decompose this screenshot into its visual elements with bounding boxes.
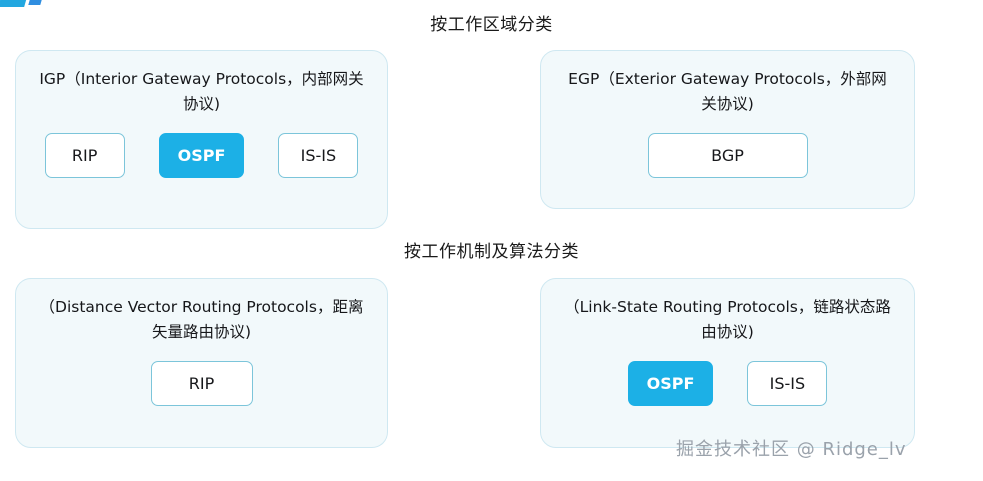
card-heading: EGP（Exterior Gateway Protocols，外部网关协议): [541, 51, 914, 117]
protocol-chip-ospf[interactable]: OSPF: [159, 133, 245, 178]
protocol-chip-rip[interactable]: RIP: [151, 361, 253, 406]
protocol-chip-row: BGP: [541, 117, 914, 178]
card-distance-vector: （Distance Vector Routing Protocols，距离矢量路…: [15, 278, 388, 448]
section-title: 按工作区域分类: [0, 10, 983, 35]
protocol-chip-rip[interactable]: RIP: [45, 133, 125, 178]
card-row: IGP（Interior Gateway Protocols，内部网关协议) R…: [0, 50, 983, 245]
section-title: 按工作机制及算法分类: [0, 237, 983, 262]
card-heading: IGP（Interior Gateway Protocols，内部网关协议): [16, 51, 387, 117]
protocol-chip-isis[interactable]: IS-IS: [278, 133, 358, 178]
section-by-work-area: 按工作区域分类 IGP（Interior Gateway Protocols，内…: [0, 10, 983, 245]
card-heading: （Distance Vector Routing Protocols，距离矢量路…: [16, 279, 387, 345]
chip-label: OSPF: [647, 374, 695, 393]
card-egp: EGP（Exterior Gateway Protocols，外部网关协议) B…: [540, 50, 915, 209]
chip-label: RIP: [72, 146, 97, 165]
protocol-chip-bgp[interactable]: BGP: [648, 133, 808, 178]
chip-label: BGP: [711, 146, 744, 165]
chip-label: RIP: [189, 374, 214, 393]
protocol-chip-row: RIP OSPF IS-IS: [16, 117, 387, 178]
section-by-mechanism-algorithm: 按工作机制及算法分类 （Distance Vector Routing Prot…: [0, 237, 983, 468]
card-igp: IGP（Interior Gateway Protocols，内部网关协议) R…: [15, 50, 388, 229]
logo-bar-secondary: [28, 0, 43, 5]
chip-label: IS-IS: [770, 374, 806, 393]
card-link-state: （Link-State Routing Protocols，链路状态路由协议) …: [540, 278, 915, 448]
card-row: （Distance Vector Routing Protocols，距离矢量路…: [0, 278, 983, 468]
logo-bar-primary: [0, 0, 28, 7]
chip-label: IS-IS: [301, 146, 337, 165]
protocol-chip-row: RIP: [16, 345, 387, 406]
protocol-chip-isis[interactable]: IS-IS: [747, 361, 827, 406]
chip-label: OSPF: [178, 146, 226, 165]
card-heading: （Link-State Routing Protocols，链路状态路由协议): [541, 279, 914, 345]
protocol-chip-ospf[interactable]: OSPF: [628, 361, 714, 406]
protocol-chip-row: OSPF IS-IS: [541, 345, 914, 406]
